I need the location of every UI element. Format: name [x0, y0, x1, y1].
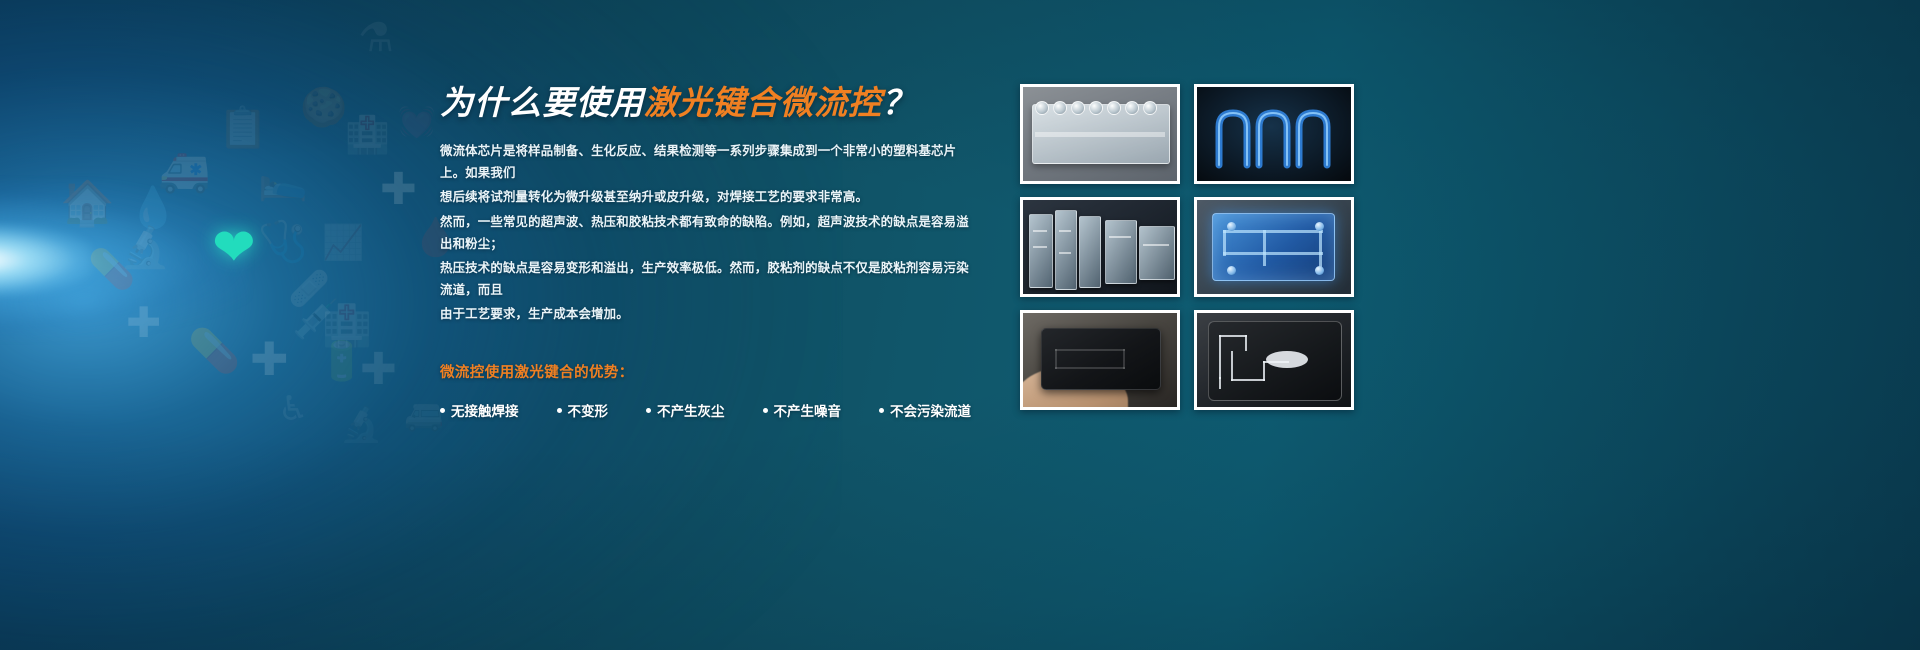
body-line-1: 微流体芯片是将样品制备、生化反应、结果检测等一系列步骤集成到一个非常小的塑料基芯…	[440, 140, 980, 184]
product-image-grid: microfluidic-chip-circular-wells microfl…	[1020, 84, 1354, 410]
gallery-item-3[interactable]: microfluidic-clear-plates	[1020, 197, 1180, 297]
list-item-label: 不变形	[568, 400, 609, 420]
title-highlight: 激光键合微流控	[644, 84, 882, 121]
gallery-item-4[interactable]: microfluidic-blue-manifold	[1194, 197, 1354, 297]
advantages-list: 无接触焊接 不变形 不产生灰尘 不产生噪音 不会污染流道	[440, 400, 980, 420]
gallery-item-1[interactable]: microfluidic-chip-circular-wells	[1020, 84, 1180, 184]
microfluidic-black-chip-in-hand-image	[1023, 313, 1177, 407]
list-item-label: 无接触焊接	[451, 400, 519, 420]
list-item-label: 不会污染流道	[890, 400, 971, 420]
microfluidic-serpentine-channel-image	[1197, 87, 1351, 181]
hero-content: 为什么要使用激光键合微流控？ 微流体芯片是将样品制备、生化反应、结果检测等一系列…	[440, 76, 980, 420]
microfluidic-black-chip-channels-image	[1197, 313, 1351, 407]
bullet-dot-icon	[646, 408, 651, 413]
advantages-subheading: 微流控使用激光键合的优势：	[440, 361, 980, 382]
list-item: 不产生灰尘	[646, 400, 725, 420]
serpentine-channel-graphic	[1197, 87, 1351, 181]
body-line-4: 热压技术的缺点是容易变形和溢出，生产效率极低。然而，胶粘剂的缺点不仅是胶粘剂容易…	[440, 257, 980, 301]
body-line-5: 由于工艺要求，生产成本会增加。	[440, 303, 980, 325]
list-item: 不产生噪音	[763, 400, 842, 420]
title-prefix: 为什么要使用	[440, 84, 644, 121]
gallery-item-6[interactable]: microfluidic-black-chip-channels	[1194, 310, 1354, 410]
list-item: 不变形	[557, 400, 609, 420]
microfluidic-clear-plates-image	[1023, 200, 1177, 294]
bullet-dot-icon	[763, 408, 768, 413]
gallery-item-2[interactable]: microfluidic-serpentine-channel	[1194, 84, 1354, 184]
bullet-dot-icon	[879, 408, 884, 413]
gallery-item-5[interactable]: microfluidic-black-chip-in-hand	[1020, 310, 1180, 410]
body-line-3: 然而，一些常见的超声波、热压和胶粘技术都有致命的缺陷。例如，超声波技术的缺点是容…	[440, 211, 980, 255]
microfluidic-chip-circular-wells-image	[1023, 87, 1177, 181]
hero-banner: ⚗ 🍪 📋 🏥 💓 🚑 🛌 ✚ 🏠 💧 🩺 📈 🩸 🔬 💊 🩹 ✚ 💉 🏥 💊 …	[0, 0, 1920, 650]
body-line-2: 想后续将试剂量转化为微升级甚至纳升或皮升级，对焊接工艺的要求非常高。	[440, 186, 980, 208]
list-item-label: 不产生灰尘	[657, 400, 725, 420]
list-item: 无接触焊接	[440, 400, 519, 420]
bullet-dot-icon	[440, 408, 445, 413]
microfluidic-blue-manifold-image	[1197, 200, 1351, 294]
title-suffix: ？	[882, 84, 916, 121]
list-item: 不会污染流道	[879, 400, 971, 420]
bullet-dot-icon	[557, 408, 562, 413]
list-item-label: 不产生噪音	[774, 400, 842, 420]
page-title: 为什么要使用激光键合微流控？	[440, 76, 980, 124]
